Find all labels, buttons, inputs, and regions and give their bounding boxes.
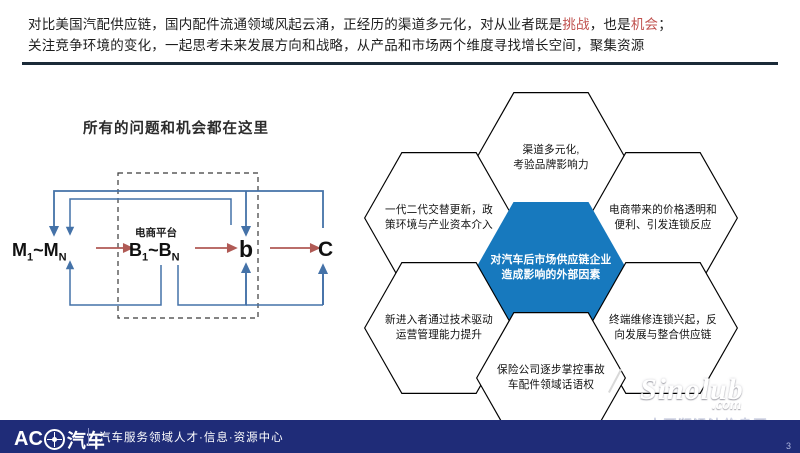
slide-canvas: 对比美国汽配供应链，国内配件流通领域风起云涌，正经历的渠道多元化，对从业者既是挑… bbox=[0, 0, 800, 453]
feedback-smallb-to-b-bottom bbox=[178, 265, 246, 305]
header-highlight-challenge: 挑战 bbox=[562, 17, 589, 32]
page-number: 3 bbox=[786, 441, 791, 451]
header-line-1: 对比美国汽配供应链，国内配件流通领域风起云涌，正经历的渠道多元化，对从业者既是挑… bbox=[28, 14, 776, 35]
hex-label-bottom-left: 新进入者通过技术驱动运营管理能力提升 bbox=[378, 313, 500, 343]
footer-bar: AC 汽车 汽车服务领域人才·信息·资源中心 3 bbox=[0, 420, 800, 453]
header-line-2: 关注竞争环境的变化，一起思考未来发展方向和战略，从产品和市场两个维度寻找增长空间… bbox=[28, 35, 776, 56]
flow-diagram-svg bbox=[18, 165, 358, 325]
node-b-letter: B bbox=[129, 240, 142, 260]
node-b-subn: N bbox=[172, 252, 180, 264]
hex-label-top-left: 一代二代交替更新，政策环境与产业资本介入 bbox=[378, 203, 500, 233]
node-retailer: b bbox=[239, 236, 253, 263]
node-distributor: B1~BN bbox=[129, 240, 180, 264]
footer-tagline: 汽车服务领域人才·信息·资源中心 bbox=[99, 429, 284, 445]
left-panel-title: 所有的问题和机会都在这里 bbox=[83, 117, 269, 138]
watermark-domain-text: .com bbox=[712, 397, 742, 414]
feedback-b-to-m-bottom bbox=[70, 265, 161, 305]
external-factors-hex-diagram: 渠道多元化,考验品牌影响力 一代二代交替更新，政策环境与产业资本介入 电商带来的… bbox=[362, 78, 800, 394]
node-m-letter: M bbox=[12, 240, 27, 260]
node-b-tilde: ~B bbox=[148, 240, 172, 260]
steering-wheel-spoke bbox=[47, 439, 62, 441]
logo-separator bbox=[88, 428, 89, 445]
header-line1-part2: ，也是 bbox=[590, 17, 631, 32]
header-divider-rule bbox=[22, 62, 778, 65]
header-line1-part3: ； bbox=[658, 17, 672, 32]
hex-label-bottom: 保险公司逐步掌控事故车配件领域话语权 bbox=[490, 363, 612, 393]
ac-auto-logo[interactable]: AC 汽车 bbox=[14, 426, 105, 453]
node-m-tilde: ~M bbox=[33, 240, 59, 260]
feedback-c-to-m-top bbox=[54, 191, 323, 231]
steering-wheel-icon bbox=[44, 429, 65, 450]
header-text-block: 对比美国汽配供应链，国内配件流通领域风起云涌，正经历的渠道多元化，对从业者既是挑… bbox=[28, 14, 776, 56]
logo-letters: AC bbox=[14, 428, 43, 451]
node-consumer: C bbox=[318, 238, 333, 262]
hex-label-bottom-right: 终端维修连锁兴起，反向发展与整合供应链 bbox=[602, 313, 724, 343]
hex-label-top-right: 电商带来的价格透明和便利、引发连锁反应 bbox=[602, 203, 724, 233]
ecommerce-platform-label: 电商平台 bbox=[135, 225, 177, 240]
node-manufacturer: M1~MN bbox=[12, 240, 67, 264]
header-line1-part1: 对比美国汽配供应链，国内配件流通领域风起云涌，正经历的渠道多元化，对从业者既是 bbox=[28, 17, 562, 32]
hex-label-center: 对汽车后市场供应链企业造成影响的外部因素 bbox=[487, 253, 615, 283]
hex-label-top: 渠道多元化,考验品牌影响力 bbox=[490, 143, 612, 173]
header-highlight-opportunity: 机会 bbox=[631, 17, 658, 32]
supply-chain-flow-diagram bbox=[18, 165, 358, 325]
node-m-subn: N bbox=[59, 252, 67, 264]
